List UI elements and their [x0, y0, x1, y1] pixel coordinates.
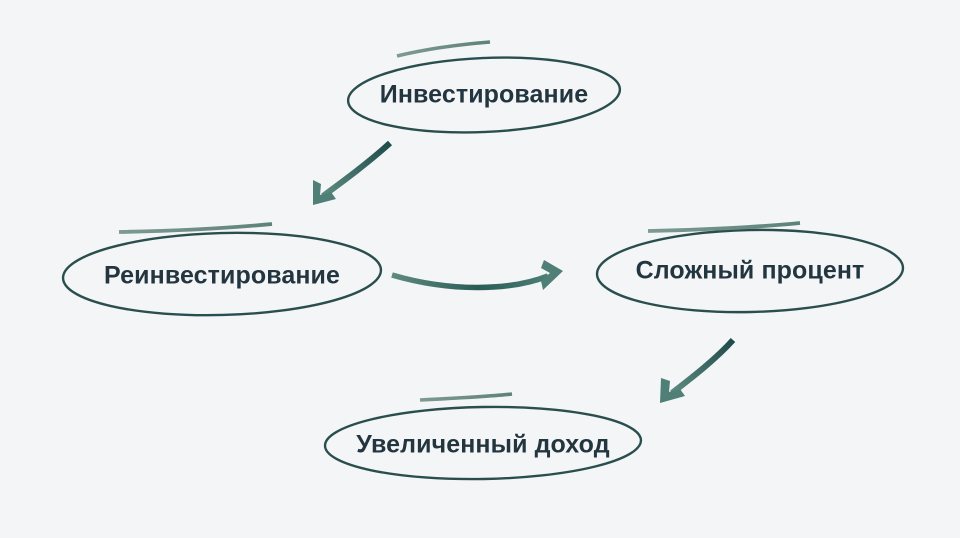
node-reinvesting-ellipse: [62, 229, 382, 319]
edge-investing-to-reinvesting-line: [323, 143, 390, 196]
node-increased-income-ellipse: [324, 404, 641, 482]
node-reinvesting[interactable]: [62, 224, 382, 319]
node-reinvesting-overshoot-stroke: [119, 224, 272, 232]
node-investing-ellipse: [347, 52, 622, 138]
diagram-vector-layer: [0, 0, 960, 538]
edge-compound-to-income-line: [672, 340, 733, 393]
edge-compound-to-income: [660, 340, 733, 403]
node-increased-income-overshoot-stroke: [420, 394, 512, 400]
node-investing-overshoot-stroke: [397, 42, 490, 56]
edge-reinvesting-to-compound: [392, 260, 563, 290]
edge-investing-to-reinvesting: [313, 143, 390, 205]
node-compound-interest-ellipse: [596, 227, 904, 315]
diagram-canvas: Инвестирование Реинвестирование Сложный …: [0, 0, 960, 538]
node-investing[interactable]: [347, 42, 622, 138]
edge-reinvesting-to-compound-line: [392, 275, 548, 288]
node-increased-income[interactable]: [324, 394, 641, 482]
node-compound-interest[interactable]: [596, 223, 904, 315]
